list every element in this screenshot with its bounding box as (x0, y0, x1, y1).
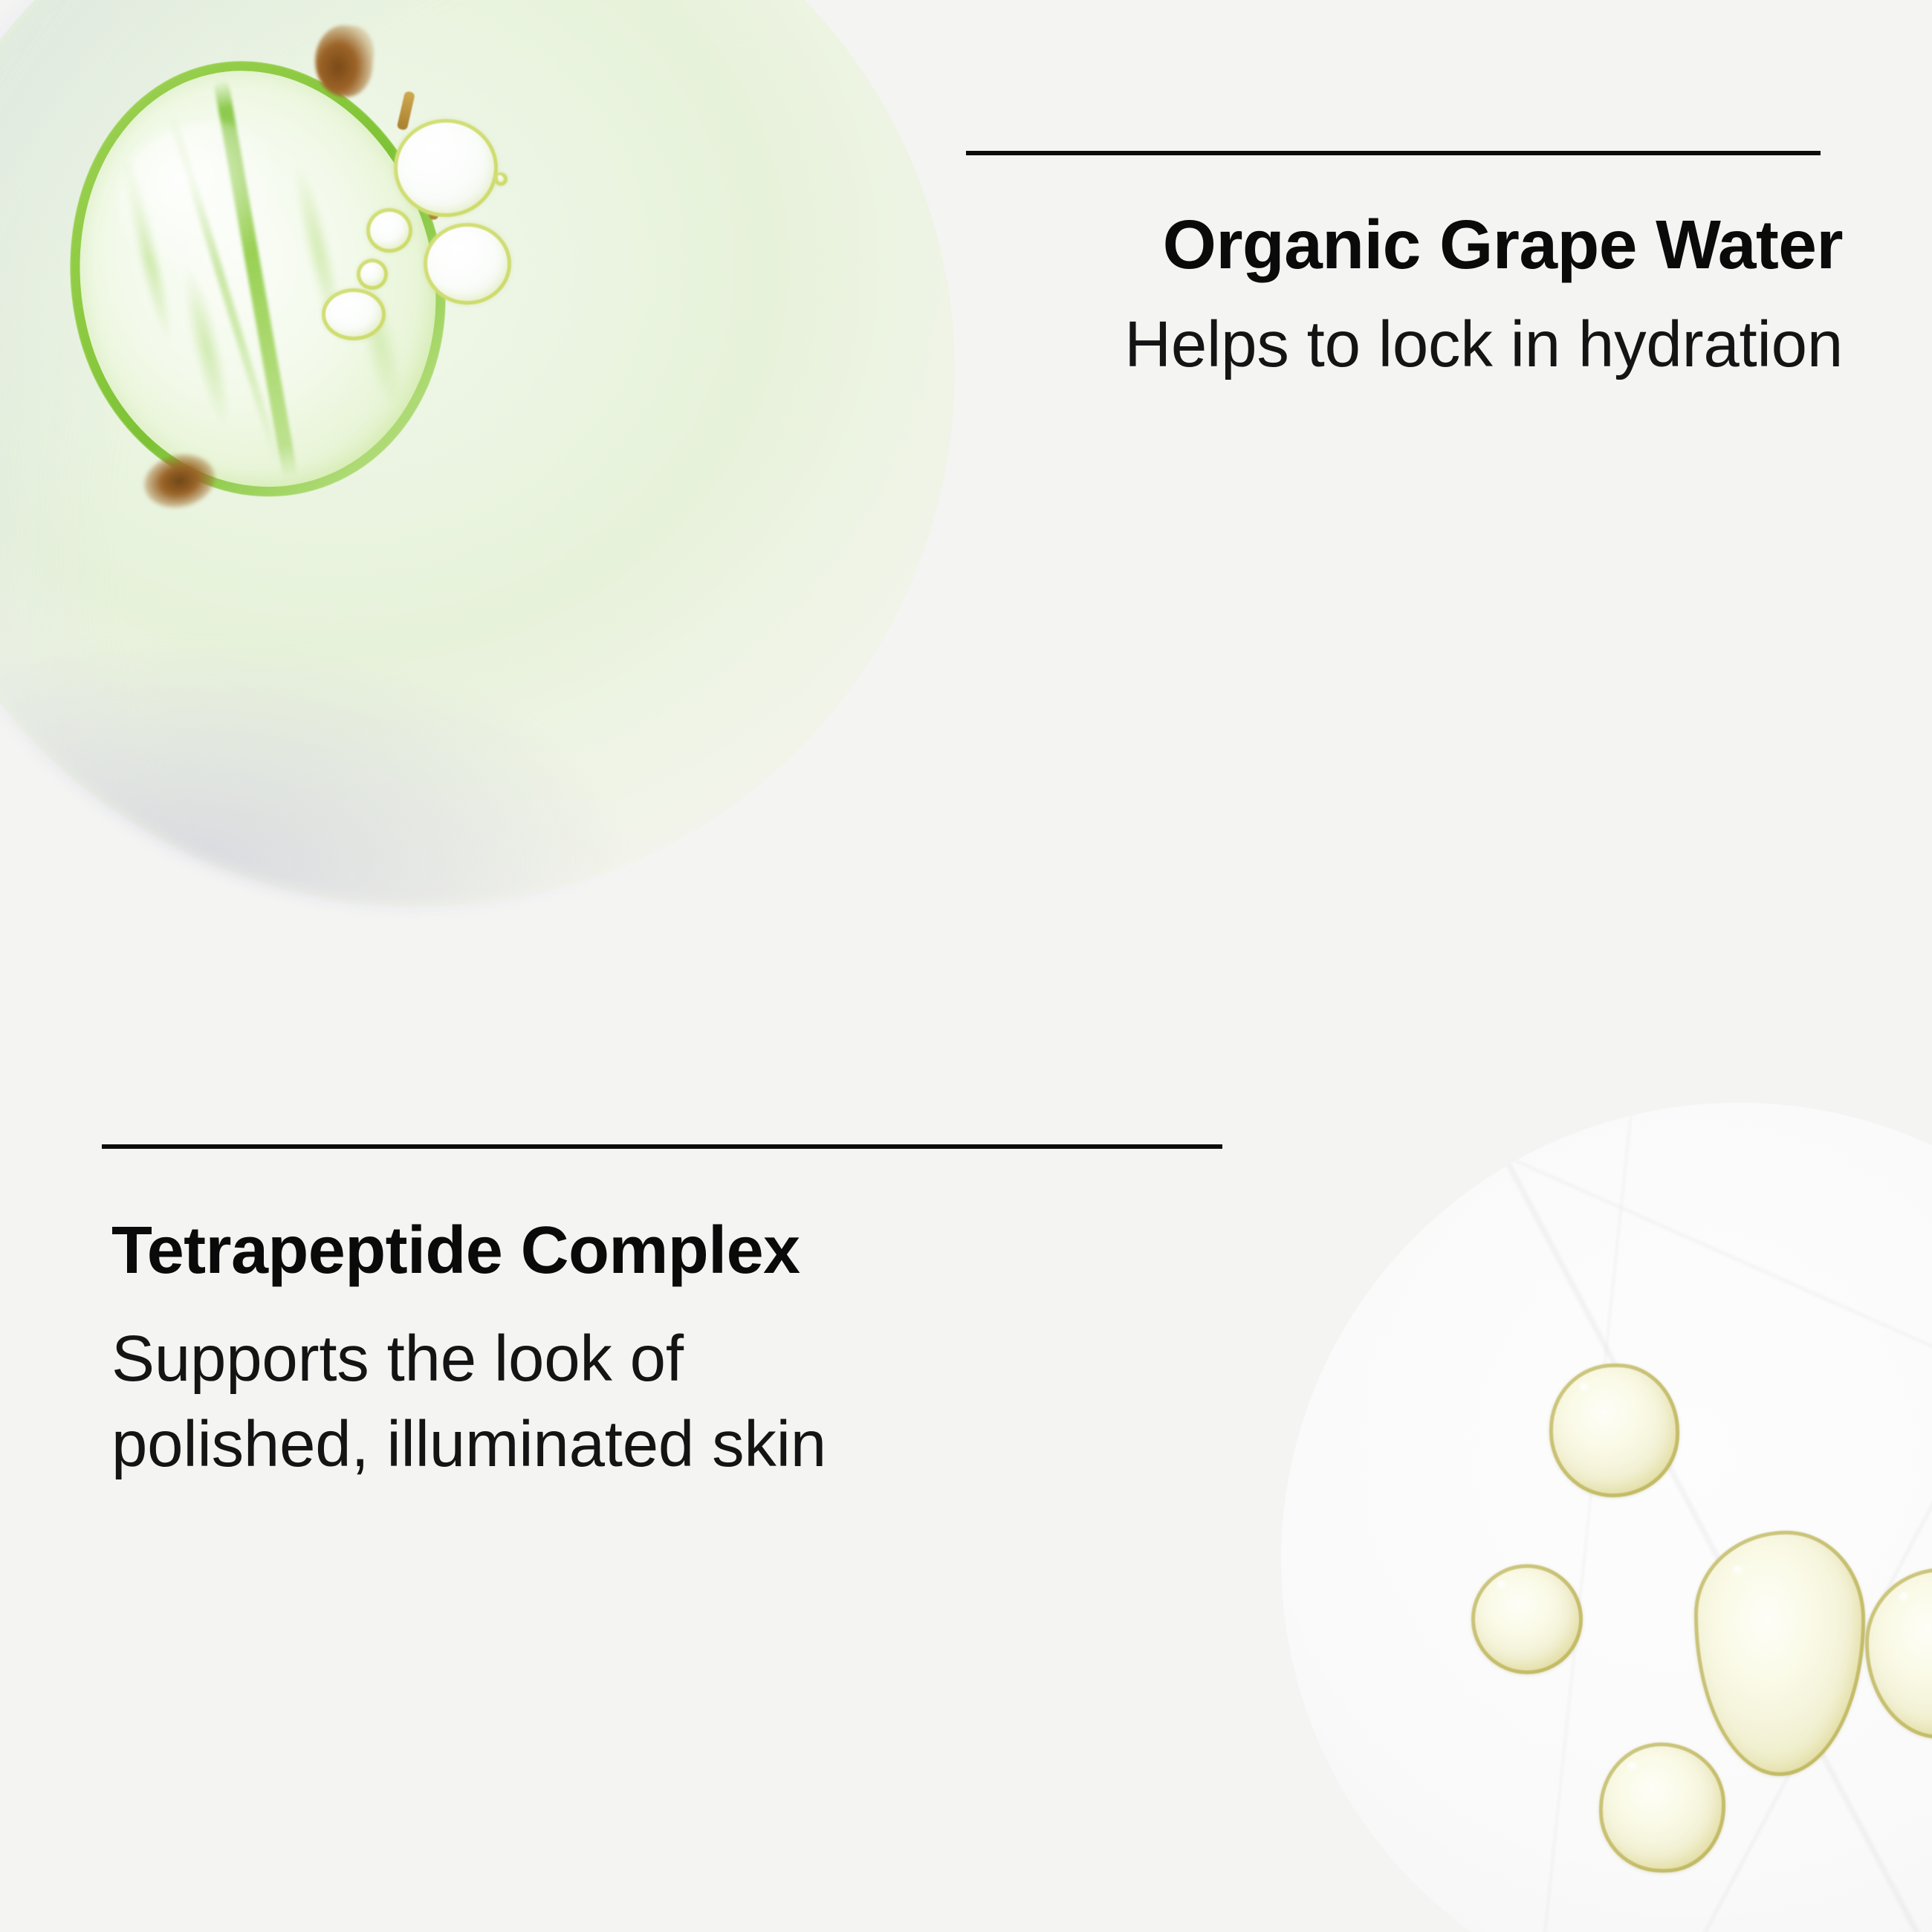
oil-droplet (1599, 1743, 1725, 1873)
petri-dish-oil-droplets (1219, 1040, 1932, 1932)
divider-rule-top (966, 151, 1821, 155)
ingredient-benefits-panel: Organic Grape Water Helps to lock in hyd… (0, 0, 1932, 1932)
petri-dish-grape-water (0, 0, 1037, 988)
benefit-heading: Tetrapeptide Complex (111, 1207, 929, 1294)
oil-droplet (1471, 1564, 1583, 1674)
bubble (494, 172, 508, 186)
divider-rule-bottom (102, 1144, 1222, 1149)
bubble (394, 119, 498, 217)
benefit-body: Helps to lock in hydration (981, 302, 1843, 386)
benefit-block-tetrapeptide-complex: Tetrapeptide Complex Supports the look o… (111, 1207, 929, 1488)
oil-droplet (1549, 1364, 1679, 1497)
dish-glass-rim-inner (1250, 1072, 1932, 1932)
bubble (366, 208, 412, 253)
bubble (424, 223, 511, 305)
benefit-heading: Organic Grape Water (981, 204, 1843, 286)
benefit-block-organic-grape-water: Organic Grape Water Helps to lock in hyd… (981, 204, 1843, 386)
bubble (322, 288, 386, 340)
bubble (357, 259, 388, 290)
benefit-body: Supports the look of polished, illuminat… (111, 1317, 929, 1488)
